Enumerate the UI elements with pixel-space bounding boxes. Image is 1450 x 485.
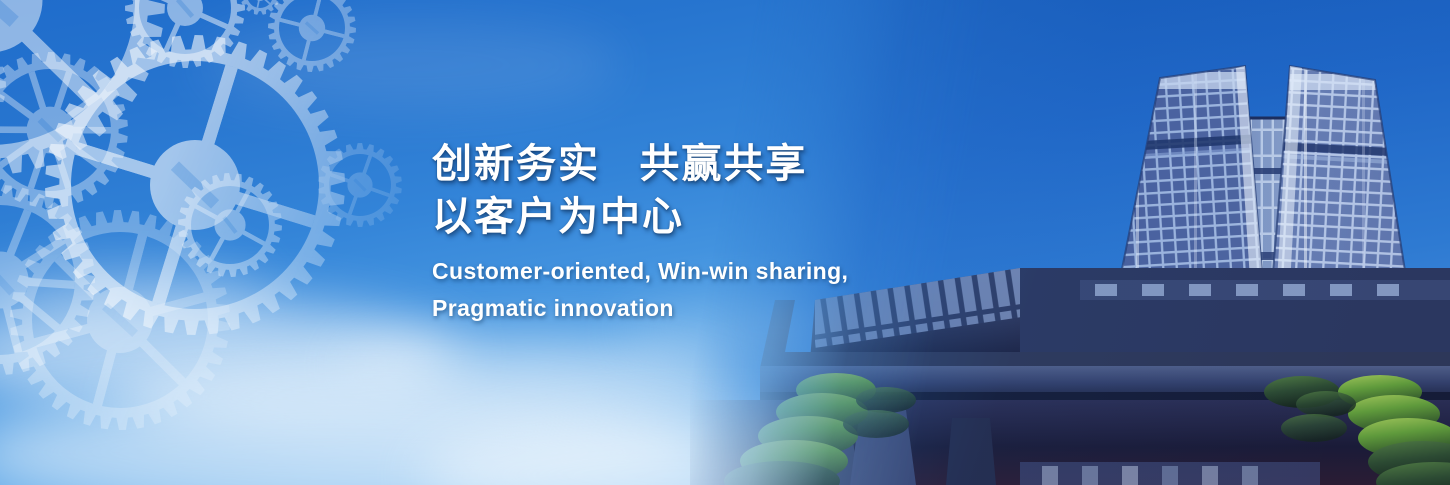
banner-copy: 创新务实 共赢共享 以客户为中心 Customer-oriented, Win-… xyxy=(432,138,992,327)
hero-banner: 创新务实 共赢共享 以客户为中心 Customer-oriented, Win-… xyxy=(0,0,1450,485)
subtitle-line-1: Customer-oriented, Win-win sharing, xyxy=(432,253,992,290)
headline-line-2: 以客户为中心 xyxy=(432,191,992,244)
headline-line-1: 创新务实 共赢共享 xyxy=(432,138,992,191)
subtitle-line-2: Pragmatic innovation xyxy=(432,290,992,327)
cloud-wisp xyxy=(200,20,620,110)
